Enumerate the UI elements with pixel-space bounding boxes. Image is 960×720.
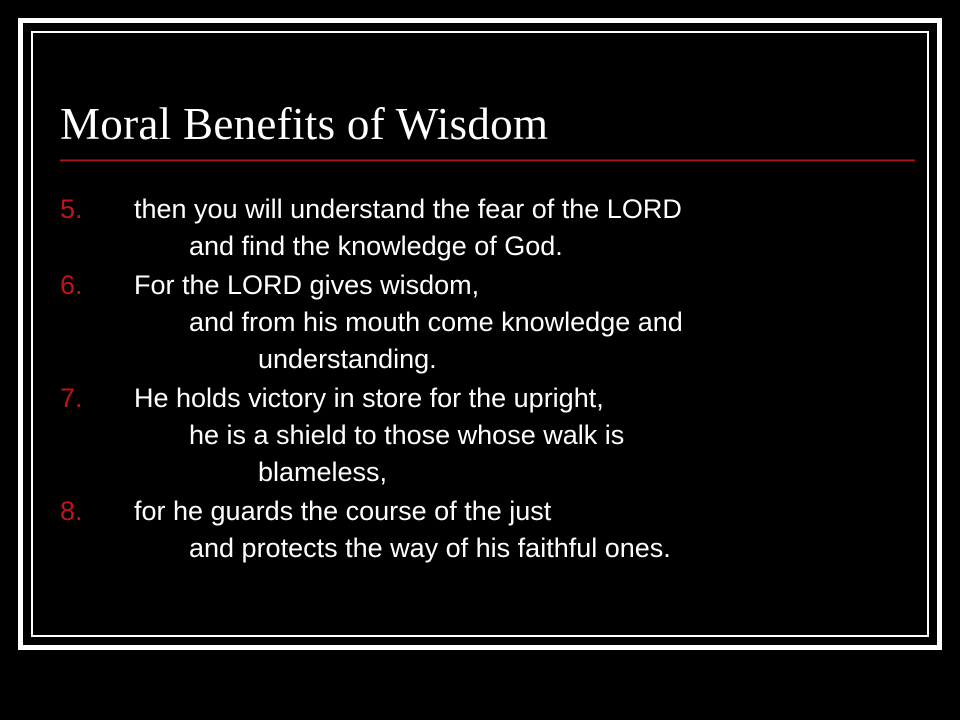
list-item-line: he is a shield to those whose walk is <box>134 417 935 454</box>
list-item-line: He holds victory in store for the uprigh… <box>134 380 935 417</box>
list-item-line: For the LORD gives wisdom, <box>134 267 935 304</box>
list-item-text: He holds victory in store for the uprigh… <box>134 380 935 491</box>
list-item-line: then you will understand the fear of the… <box>134 191 935 228</box>
list-item-line: and find the knowledge of God. <box>134 228 935 265</box>
list-item: 5.then you will understand the fear of t… <box>60 191 935 265</box>
list-item-line: blameless, <box>134 454 935 491</box>
list-item: 6.For the LORD gives wisdom,and from his… <box>60 267 935 378</box>
list-item-line: and from his mouth come knowledge and <box>134 304 935 341</box>
list-item-number: 8. <box>60 493 134 530</box>
list-item-line: understanding. <box>134 341 935 378</box>
list-item-line: and protects the way of his faithful one… <box>134 530 935 567</box>
list-item: 8.for he guards the course of the justan… <box>60 493 935 567</box>
list-item-text: For the LORD gives wisdom,and from his m… <box>134 267 935 378</box>
list-item-number: 7. <box>60 380 134 417</box>
slide-title-block: Moral Benefits of Wisdom <box>60 96 920 162</box>
presentation-slide: Moral Benefits of Wisdom 5.then you will… <box>0 0 960 720</box>
page-title: Moral Benefits of Wisdom <box>60 96 920 152</box>
list-item-text: for he guards the course of the justand … <box>134 493 935 567</box>
list-item-line: for he guards the course of the just <box>134 493 935 530</box>
list-item-number: 6. <box>60 267 134 304</box>
scripture-list: 5.then you will understand the fear of t… <box>60 191 935 569</box>
list-item-text: then you will understand the fear of the… <box>134 191 935 265</box>
list-item: 7.He holds victory in store for the upri… <box>60 380 935 491</box>
title-divider-rule <box>60 159 915 162</box>
list-item-number: 5. <box>60 191 134 228</box>
